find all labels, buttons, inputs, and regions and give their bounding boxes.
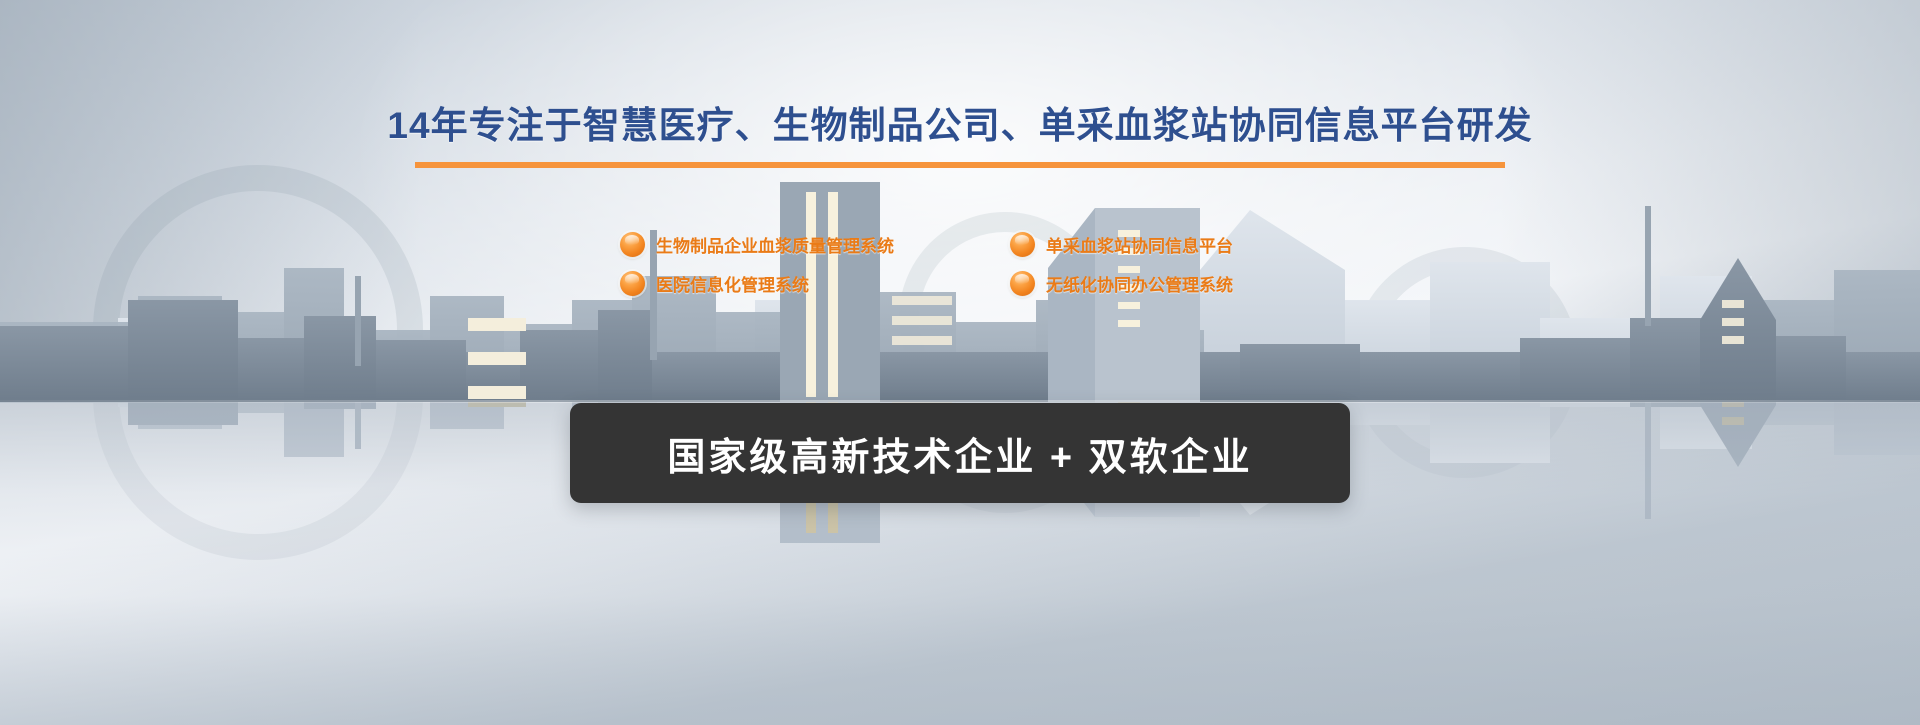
feature-item-plasma-quality[interactable]: 生物制品企业血浆质量管理系统: [620, 232, 1010, 257]
feature-label: 医院信息化管理系统: [656, 271, 809, 296]
window-strips-left: [468, 318, 526, 399]
orange-sphere-bullet-icon: [620, 271, 645, 296]
certification-plaque: 国家级高新技术企业 + 双软企业: [570, 403, 1350, 503]
feature-row-1: 生物制品企业血浆质量管理系统 单采血浆站协同信息平台: [620, 232, 1300, 257]
feature-row-2: 医院信息化管理系统 无纸化协同办公管理系统: [620, 271, 1300, 296]
feature-label: 单采血浆站协同信息平台: [1046, 232, 1233, 257]
orange-sphere-bullet-icon: [1010, 271, 1035, 296]
feature-label: 无纸化协同办公管理系统: [1046, 271, 1233, 296]
feature-list: 生物制品企业血浆质量管理系统 单采血浆站协同信息平台 医院信息化管理系统 无纸化…: [0, 232, 1920, 296]
window-strips-mid: [892, 296, 952, 345]
page-title: 14年专注于智慧医疗、生物制品公司、单采血浆站协同信息平台研发: [0, 104, 1920, 148]
feature-item-plasma-station[interactable]: 单采血浆站协同信息平台: [1010, 232, 1300, 257]
feature-label: 生物制品企业血浆质量管理系统: [656, 232, 894, 257]
title-underline-rule: [415, 162, 1505, 168]
window-strips-right: [1722, 300, 1744, 344]
headline-block: 14年专注于智慧医疗、生物制品公司、单采血浆站协同信息平台研发: [0, 104, 1920, 168]
cityscape-upper: [0, 0, 1920, 402]
hero-banner: 14年专注于智慧医疗、生物制品公司、单采血浆站协同信息平台研发 生物制品企业血浆…: [0, 0, 1920, 725]
certification-text: 国家级高新技术企业 + 双软企业: [667, 426, 1252, 481]
orange-sphere-bullet-icon: [620, 232, 645, 257]
orange-sphere-bullet-icon: [1010, 232, 1035, 257]
feature-item-paperless-office[interactable]: 无纸化协同办公管理系统: [1010, 271, 1300, 296]
feature-item-hospital-information[interactable]: 医院信息化管理系统: [620, 271, 1010, 296]
skyline-svg: [0, 0, 1920, 402]
